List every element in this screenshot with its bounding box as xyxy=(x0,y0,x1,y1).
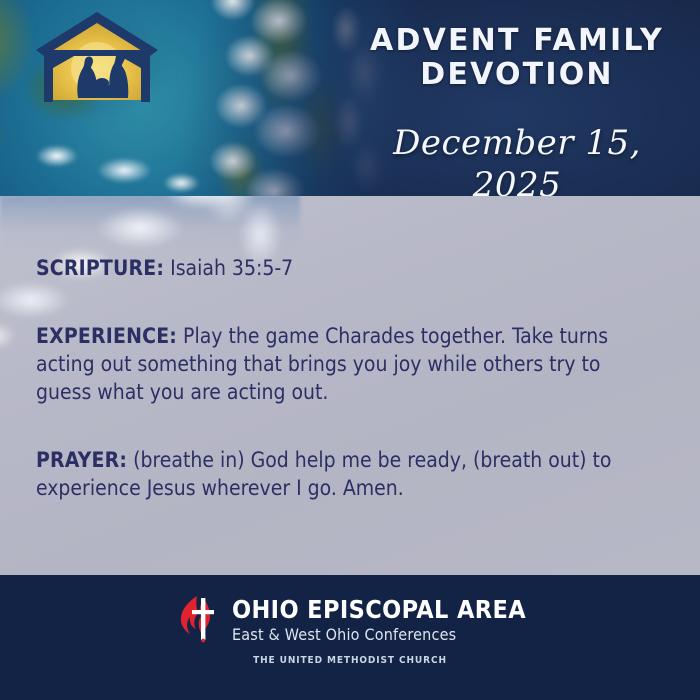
experience-label: EXPERIENCE: xyxy=(36,324,177,348)
scripture-label: SCRIPTURE: xyxy=(36,256,164,280)
devotion-content: SCRIPTURE: Isaiah 35:5-7 EXPERIENCE: Pla… xyxy=(36,254,646,502)
conferences-label: East & West Ohio Conferences xyxy=(232,624,526,646)
advent-family-devotion-poster: ADVENT FAMILY DEVOTION December 15, 2025… xyxy=(0,0,700,700)
poster-date: December 15, 2025 xyxy=(352,122,682,196)
denomination-label: THE UNITED METHODIST CHURCH xyxy=(0,655,700,666)
poster-footer: OHIO EPISCOPAL AREA East & West Ohio Con… xyxy=(0,575,700,700)
poster-body: SCRIPTURE: Isaiah 35:5-7 EXPERIENCE: Pla… xyxy=(0,196,700,575)
prayer-label: PRAYER: xyxy=(36,448,127,472)
prayer-block: PRAYER: (breathe in) God help me be read… xyxy=(36,446,646,502)
scripture-block: SCRIPTURE: Isaiah 35:5-7 xyxy=(36,254,646,282)
poster-title: ADVENT FAMILY DEVOTION xyxy=(352,24,682,92)
footer-logo-text: OHIO EPISCOPAL AREA East & West Ohio Con… xyxy=(232,596,526,646)
poster-header: ADVENT FAMILY DEVOTION December 15, 2025 xyxy=(0,0,700,196)
scripture-text: Isaiah 35:5-7 xyxy=(164,256,293,280)
experience-block: EXPERIENCE: Play the game Charades toget… xyxy=(36,322,646,406)
cross-and-flame-icon xyxy=(174,593,218,648)
nativity-scene-icon xyxy=(22,6,172,118)
nativity-scene-logo xyxy=(22,6,172,118)
organization-name: OHIO EPISCOPAL AREA xyxy=(232,596,526,623)
footer-logo-row: OHIO EPISCOPAL AREA East & West Ohio Con… xyxy=(0,593,700,648)
